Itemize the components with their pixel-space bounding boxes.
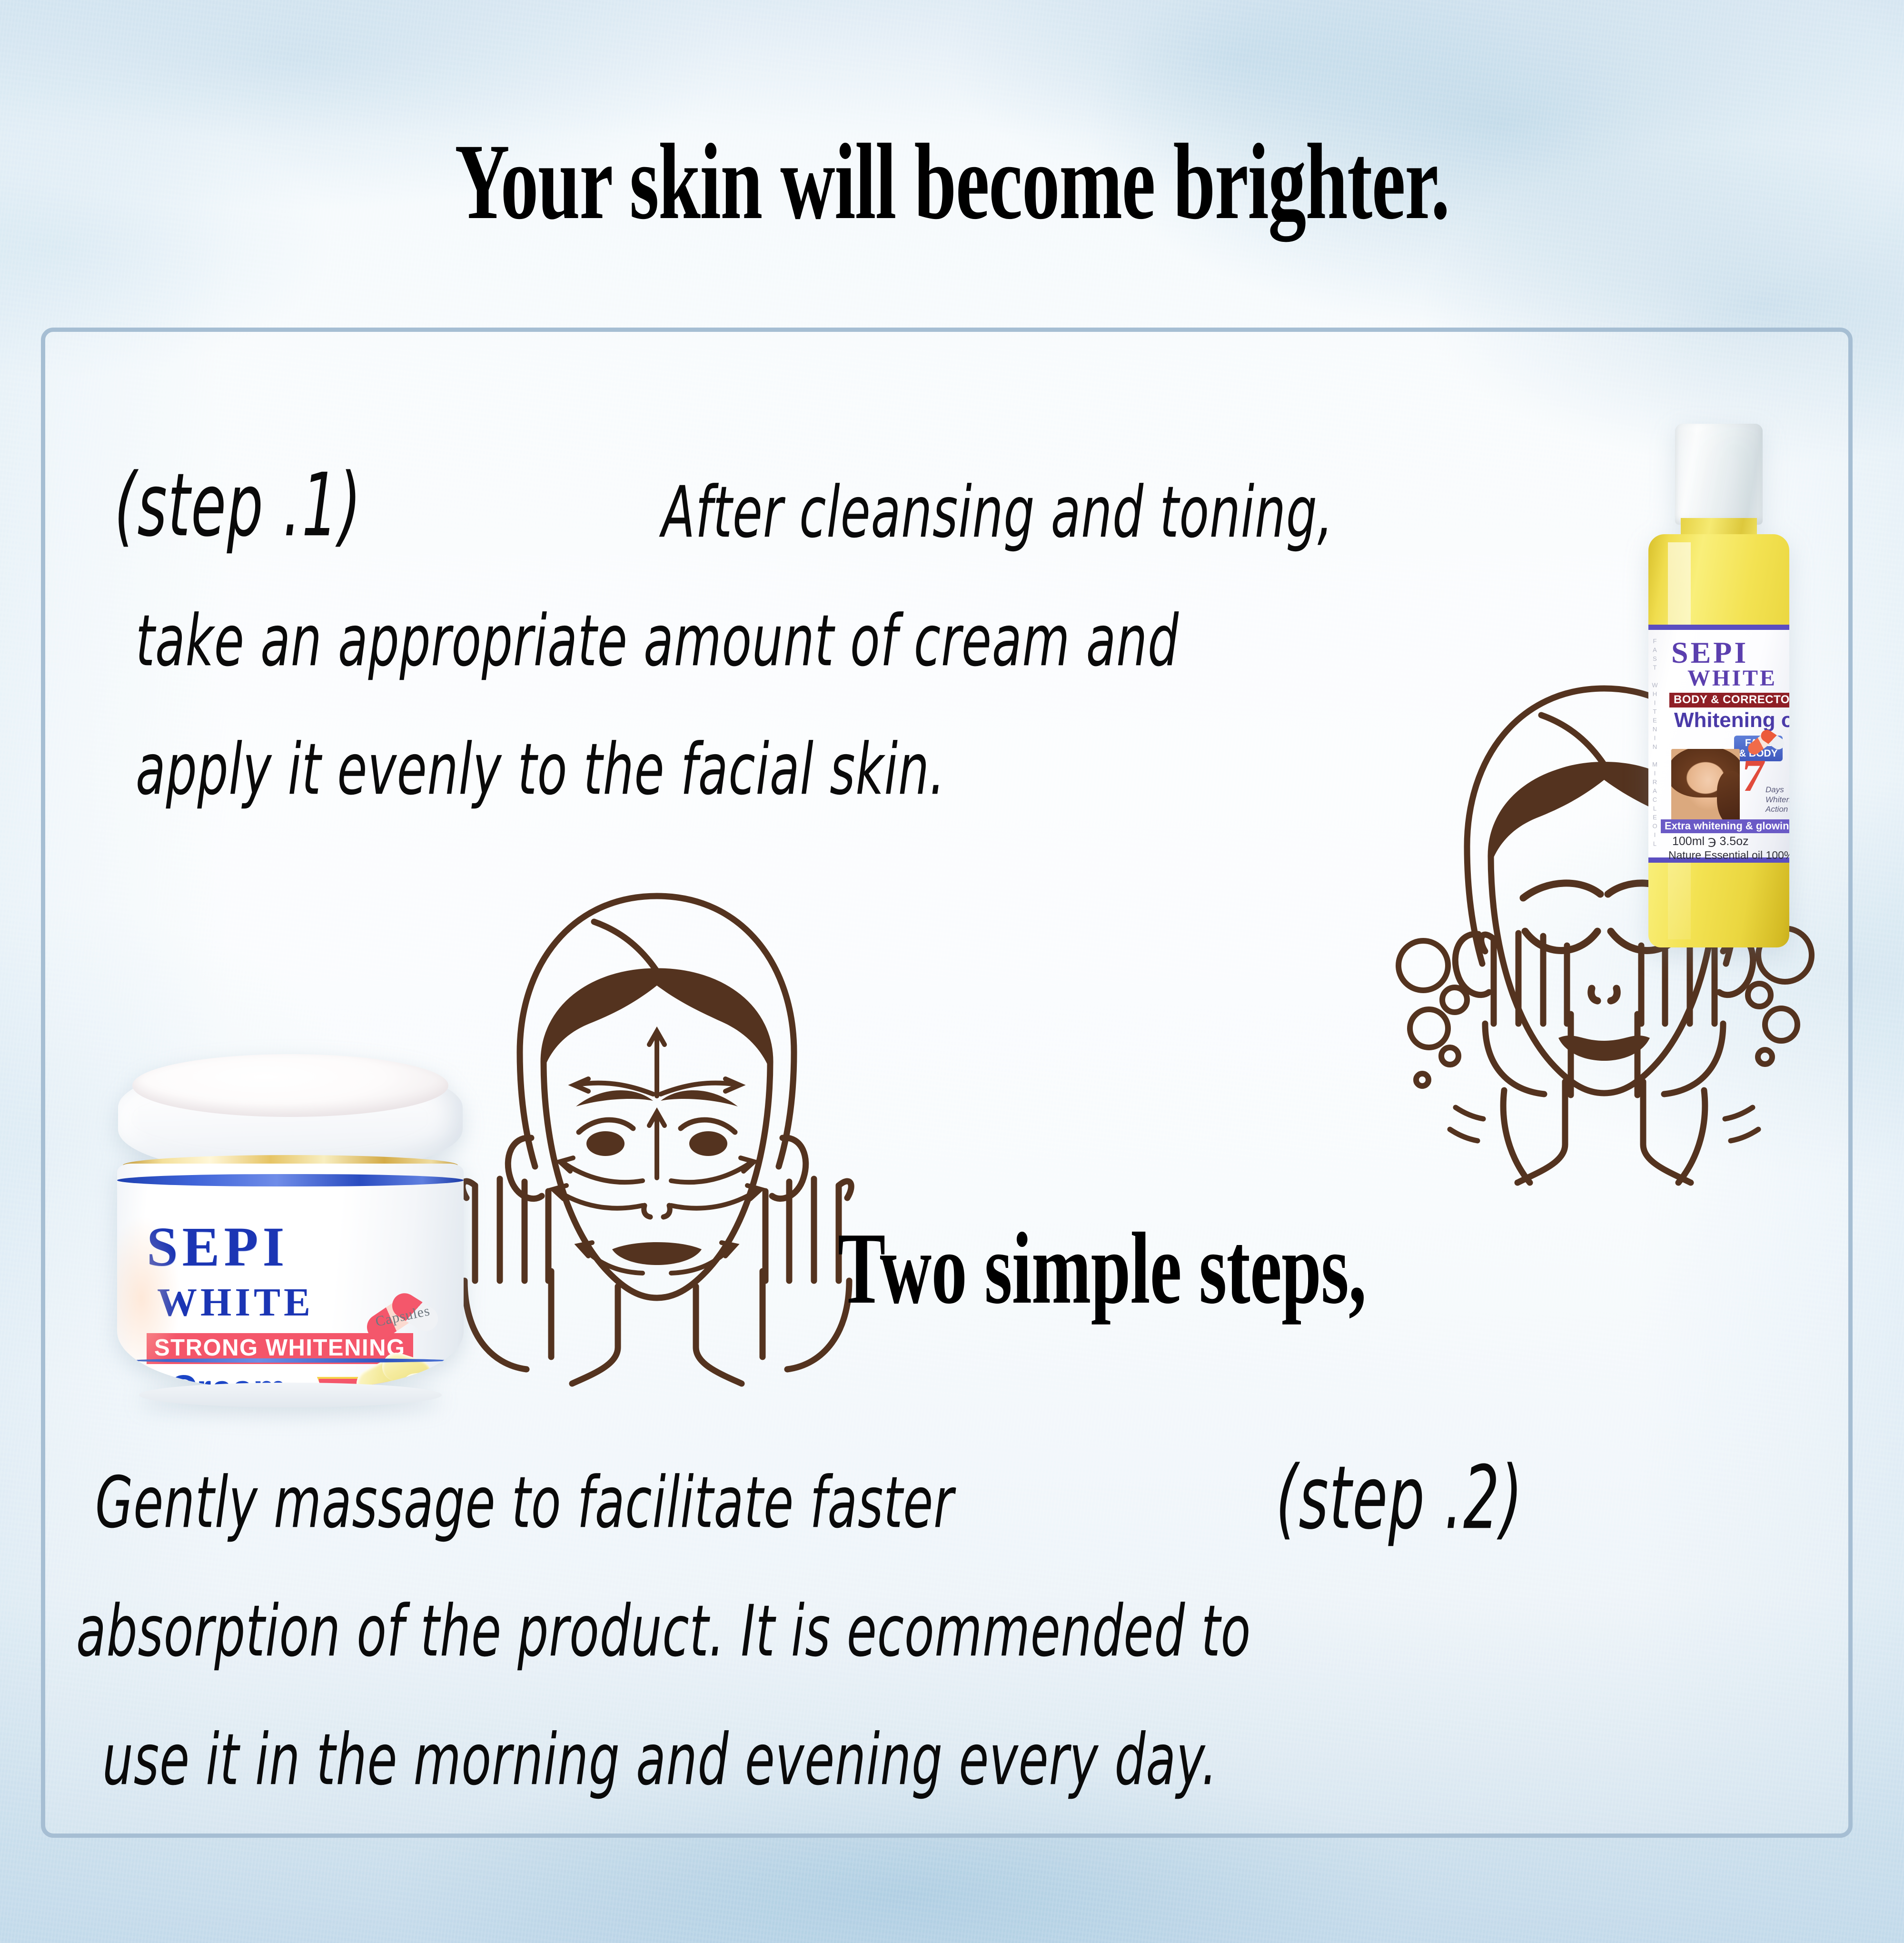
jar-brand-second: WHITE xyxy=(157,1283,314,1323)
oil-product-type: Whitening oil xyxy=(1674,710,1789,731)
oil-days-text: Days Whitening Action xyxy=(1765,785,1789,815)
poster-root: Your skin will become brighter. (step .1… xyxy=(0,0,1904,1943)
jar-lid-top xyxy=(132,1054,448,1117)
sub-headline: Two simple steps, xyxy=(838,1217,1366,1319)
oil-side-text: FAST WHITENIN MIRACLEOIL xyxy=(1651,638,1658,847)
oil-body: FAST WHITENIN MIRACLEOIL SEPI WHITE BODY… xyxy=(1648,534,1789,947)
step-2-line-2: absorption of the product. It is ecommen… xyxy=(76,1590,1251,1672)
step-1-line-1: After cleansing and toning, xyxy=(662,471,1333,553)
oil-nature-text: Nature Essential oil 100% xyxy=(1668,850,1789,861)
oil-brand-second: WHITE xyxy=(1687,667,1777,690)
step-1-line-3: apply it evenly to the facial skin. xyxy=(136,728,945,810)
oil-label: FAST WHITENIN MIRACLEOIL SEPI WHITE BODY… xyxy=(1648,625,1789,863)
jar-claim-text: STRONG WHITENING xyxy=(154,1336,406,1360)
motion-marks xyxy=(1450,1107,1758,1141)
step-1-label: (step .1) xyxy=(114,455,362,556)
oil-brand: SEPI xyxy=(1671,638,1748,668)
step-2-line-1: Gently massage to facilitate faster xyxy=(95,1461,954,1544)
page-title: Your skin will become brighter. xyxy=(286,128,1618,236)
oil-tagline-text: Extra whitening & glowing skin xyxy=(1665,821,1789,831)
left-washing-hand xyxy=(1481,933,1571,1183)
oil-days-number: 7 xyxy=(1740,757,1766,794)
oil-volume: 100ml ℈ 3.5oz xyxy=(1672,836,1749,847)
right-washing-hand xyxy=(1637,933,1727,1183)
oil-tagline-banner: Extra whitening & glowing skin xyxy=(1661,819,1789,833)
oil-model-photo xyxy=(1671,749,1740,823)
oil-banner: BODY & CORRECTOR xyxy=(1669,693,1789,707)
jar-base xyxy=(139,1383,442,1407)
jar-blue-bottom-line xyxy=(131,1358,449,1363)
step-2-label: (step .2) xyxy=(1276,1448,1523,1549)
step-2-line-3: use it in the morning and evening every … xyxy=(102,1718,1218,1801)
jar-body: SEPI WHITE STRONG WHITENING Cream 100g C… xyxy=(117,1164,464,1388)
step-1-line-2: take an appropriate amount of cream and xyxy=(136,599,1179,682)
jar-blue-band xyxy=(117,1174,464,1186)
oil-cap xyxy=(1675,424,1763,525)
face-massage-diagram xyxy=(419,852,895,1414)
left-hand xyxy=(463,1179,551,1369)
oil-model-hair-side xyxy=(1717,771,1740,823)
product-cream-jar: SEPI WHITE STRONG WHITENING Cream 100g C… xyxy=(114,1062,466,1400)
jar-brand: SEPI xyxy=(147,1219,288,1275)
oil-banner-text: BODY & CORRECTOR xyxy=(1674,694,1789,706)
product-whitening-oil: FAST WHITENIN MIRACLEOIL SEPI WHITE BODY… xyxy=(1640,424,1797,947)
